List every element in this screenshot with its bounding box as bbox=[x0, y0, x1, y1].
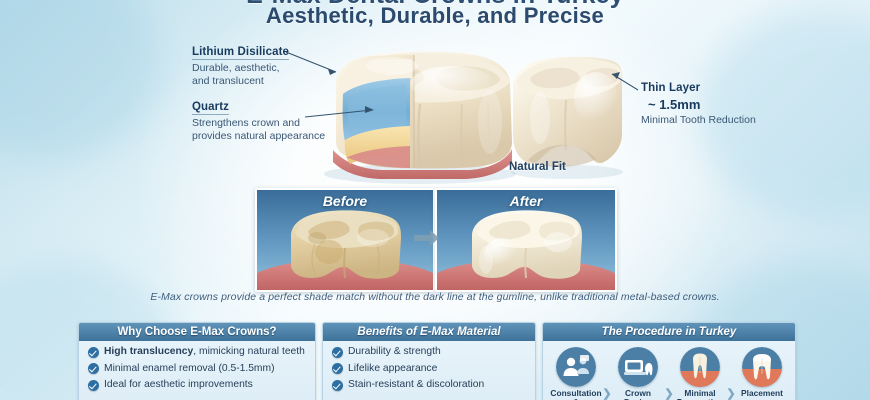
list-item: Ideal for aesthetic improvements bbox=[88, 379, 307, 391]
annotation-thin-layer: Thin Layer ~ 1.5mm Minimal Tooth Reducti… bbox=[641, 78, 756, 127]
after-label: After bbox=[437, 193, 615, 209]
check-circle-icon bbox=[332, 347, 343, 358]
list-item: Durability & strength bbox=[332, 346, 527, 358]
annotation-natural-fit: Natural Fit bbox=[509, 161, 566, 173]
annotation-thin-layer-value: ~ 1.5mm bbox=[648, 97, 756, 112]
procedure-step-label: MinimalPreparation bbox=[674, 389, 726, 400]
panel-benefits-list: Durability & strength Lifelike appearanc… bbox=[323, 341, 535, 391]
check-circle-icon bbox=[332, 363, 343, 374]
procedure-step-label: Placement bbox=[736, 389, 788, 398]
tooth-preparation-icon bbox=[680, 347, 720, 387]
annotation-thin-layer-title: Thin Layer bbox=[641, 82, 700, 95]
arrow-right-icon bbox=[414, 228, 440, 248]
check-circle-icon bbox=[88, 380, 99, 391]
annotation-quartz-title: Quartz bbox=[192, 101, 229, 115]
list-item: Lifelike appearance bbox=[332, 363, 527, 375]
chevron-right-icon: ❯ bbox=[602, 387, 611, 400]
procedure-step-placement: Placement bbox=[736, 347, 788, 398]
crown-placement-icon bbox=[742, 347, 782, 387]
panel-why-list: High translucency, mimicking natural tee… bbox=[79, 341, 315, 391]
panel-why-choose: Why Choose E-Max Crowns? High translucen… bbox=[78, 322, 316, 400]
list-item-text: Stain-resistant & discoloration bbox=[348, 379, 484, 391]
list-item-text: Ideal for aesthetic improvements bbox=[104, 379, 253, 391]
cutaway-molar bbox=[333, 51, 512, 179]
check-circle-icon bbox=[88, 363, 99, 374]
list-item: High translucency, mimicking natural tee… bbox=[88, 346, 307, 358]
list-item-text: Durability & strength bbox=[348, 346, 441, 358]
list-item-text: Minimal enamel removal (0.5-1.5mm) bbox=[104, 363, 275, 375]
procedure-step-crown-design: Crown Design& Fabrication bbox=[612, 347, 664, 400]
before-tooth-image bbox=[285, 208, 405, 282]
panel-procedure-heading: The Procedure in Turkey bbox=[543, 323, 795, 341]
list-item-text: High translucency, mimicking natural tee… bbox=[104, 346, 305, 358]
list-item: Stain-resistant & discoloration bbox=[332, 379, 527, 391]
panel-benefits: Benefits of E-Max Material Durability & … bbox=[322, 322, 536, 400]
annotation-lithium-title: Lithium Disilicate bbox=[192, 46, 289, 60]
comparison-caption: E-Max crowns provide a perfect shade mat… bbox=[0, 291, 870, 303]
chevron-right-icon: ❯ bbox=[664, 387, 673, 400]
procedure-steps: Consultation& Impressions ❯ Crown Design… bbox=[543, 341, 795, 400]
annotation-thin-layer-subtitle: Minimal Tooth Reduction bbox=[641, 114, 756, 127]
panel-why-heading: Why Choose E-Max Crowns? bbox=[79, 323, 315, 341]
procedure-step-label: Crown Design& Fabrication bbox=[612, 389, 664, 400]
before-panel: Before bbox=[255, 188, 435, 292]
procedure-step-consultation: Consultation& Impressions bbox=[550, 347, 602, 400]
annotation-lithium-subtitle: Durable, aesthetic, and translucent bbox=[192, 62, 289, 87]
procedure-step-label: Consultation& Impressions bbox=[550, 389, 602, 400]
annotation-lithium-disilicate: Lithium Disilicate Durable, aesthetic, a… bbox=[192, 42, 289, 87]
procedure-step-preparation: MinimalPreparation bbox=[674, 347, 726, 400]
consultation-icon bbox=[556, 347, 596, 387]
chevron-right-icon: ❯ bbox=[726, 387, 735, 400]
after-tooth-image bbox=[466, 208, 586, 282]
check-circle-icon bbox=[332, 380, 343, 391]
annotation-quartz-subtitle: Strengthens crown and provides natural a… bbox=[192, 117, 325, 142]
after-panel: After bbox=[435, 188, 617, 292]
list-item-text: Lifelike appearance bbox=[348, 363, 437, 375]
infographic-canvas: E-Max Dental Crowns in Turkey Aesthetic,… bbox=[0, 0, 870, 400]
panel-benefits-heading: Benefits of E-Max Material bbox=[323, 323, 535, 341]
crown-design-icon bbox=[618, 347, 658, 387]
panel-procedure: The Procedure in Turkey Consultation& Im… bbox=[542, 322, 796, 400]
list-item: Minimal enamel removal (0.5-1.5mm) bbox=[88, 363, 307, 375]
annotation-quartz: Quartz Strengthens crown and provides na… bbox=[192, 97, 325, 142]
check-circle-icon bbox=[88, 347, 99, 358]
before-label: Before bbox=[257, 193, 433, 209]
